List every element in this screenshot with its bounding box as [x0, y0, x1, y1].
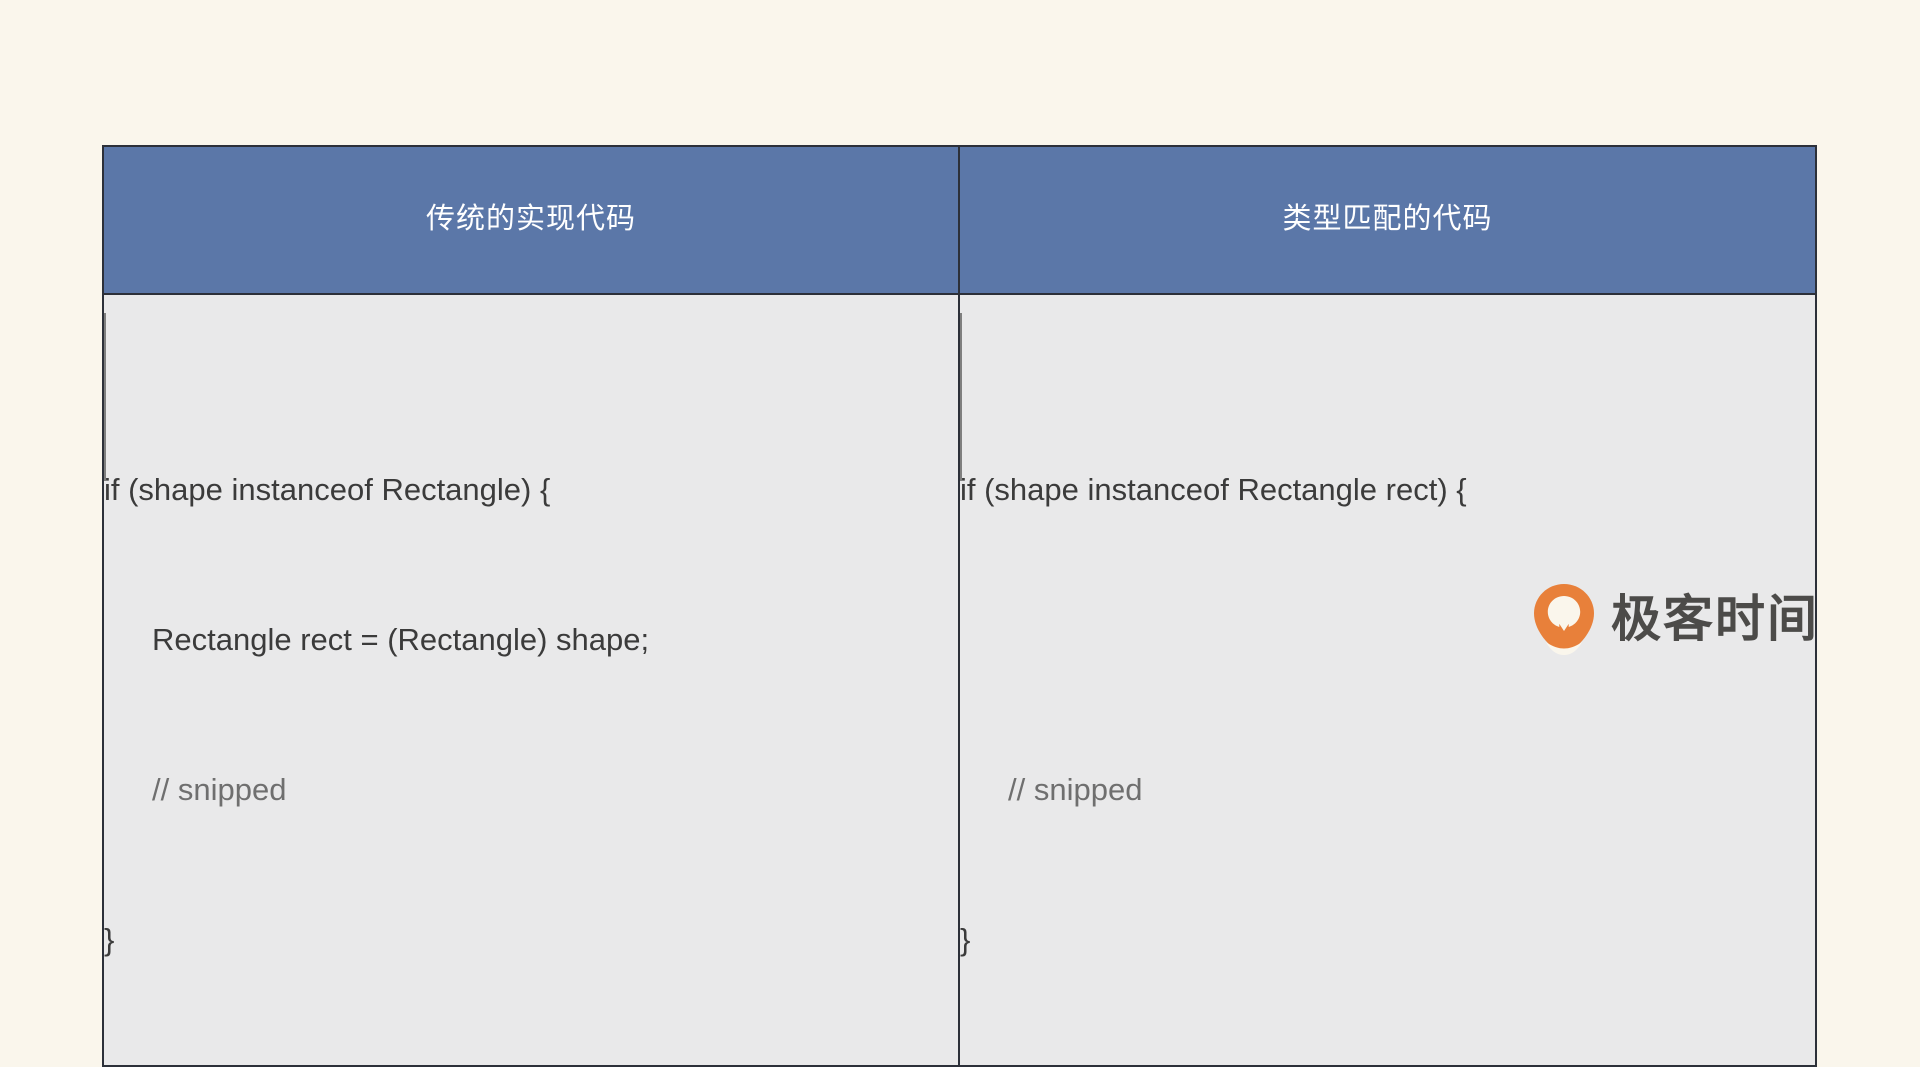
- code-cell-traditional: if (shape instanceof Rectangle) { Rectan…: [103, 294, 959, 1066]
- code-line: Rectangle rect = (Rectangle) shape;: [104, 615, 958, 665]
- code-line: }: [104, 915, 958, 965]
- code-block-pattern-matching: if (shape instanceof Rectangle rect) { /…: [960, 295, 1815, 1065]
- text-caret-rule: [104, 313, 106, 481]
- code-line: }: [960, 915, 1815, 965]
- code-comment: // snipped: [1008, 772, 1142, 807]
- code-comment: // snipped: [152, 772, 286, 807]
- column-header-traditional: 传统的实现代码: [103, 146, 959, 294]
- brand-name: 极客时间: [1611, 594, 1819, 644]
- code-line-text: if (shape instanceof Rectangle rect) {: [960, 472, 1467, 507]
- table-row: if (shape instanceof Rectangle) { Rectan…: [103, 294, 1816, 1066]
- code-line-text: }: [104, 922, 114, 957]
- code-line-text: }: [960, 922, 970, 957]
- code-line-text: if (shape instanceof Rectangle) {: [104, 472, 550, 507]
- code-line: // snipped: [960, 765, 1815, 815]
- table-body: if (shape instanceof Rectangle) { Rectan…: [103, 294, 1816, 1066]
- text-caret-rule: [960, 313, 962, 481]
- table-header: 传统的实现代码 类型匹配的代码: [103, 146, 1816, 294]
- code-cell-pattern-matching: if (shape instanceof Rectangle rect) { /…: [959, 294, 1816, 1066]
- code-line: // snipped: [104, 765, 958, 815]
- column-header-pattern-matching: 类型匹配的代码: [959, 146, 1816, 294]
- slide-canvas: 传统的实现代码 类型匹配的代码 if (shape instanceof Rec…: [0, 0, 1920, 729]
- code-line-text: Rectangle rect = (Rectangle) shape;: [152, 622, 649, 657]
- geektime-pin-icon: [1533, 583, 1595, 655]
- code-line: if (shape instanceof Rectangle) {: [104, 465, 958, 515]
- table-header-row: 传统的实现代码 类型匹配的代码: [103, 146, 1816, 294]
- brand-logo: 极客时间: [1533, 583, 1819, 655]
- code-line: if (shape instanceof Rectangle rect) {: [960, 465, 1815, 515]
- code-block-traditional: if (shape instanceof Rectangle) { Rectan…: [104, 295, 958, 1065]
